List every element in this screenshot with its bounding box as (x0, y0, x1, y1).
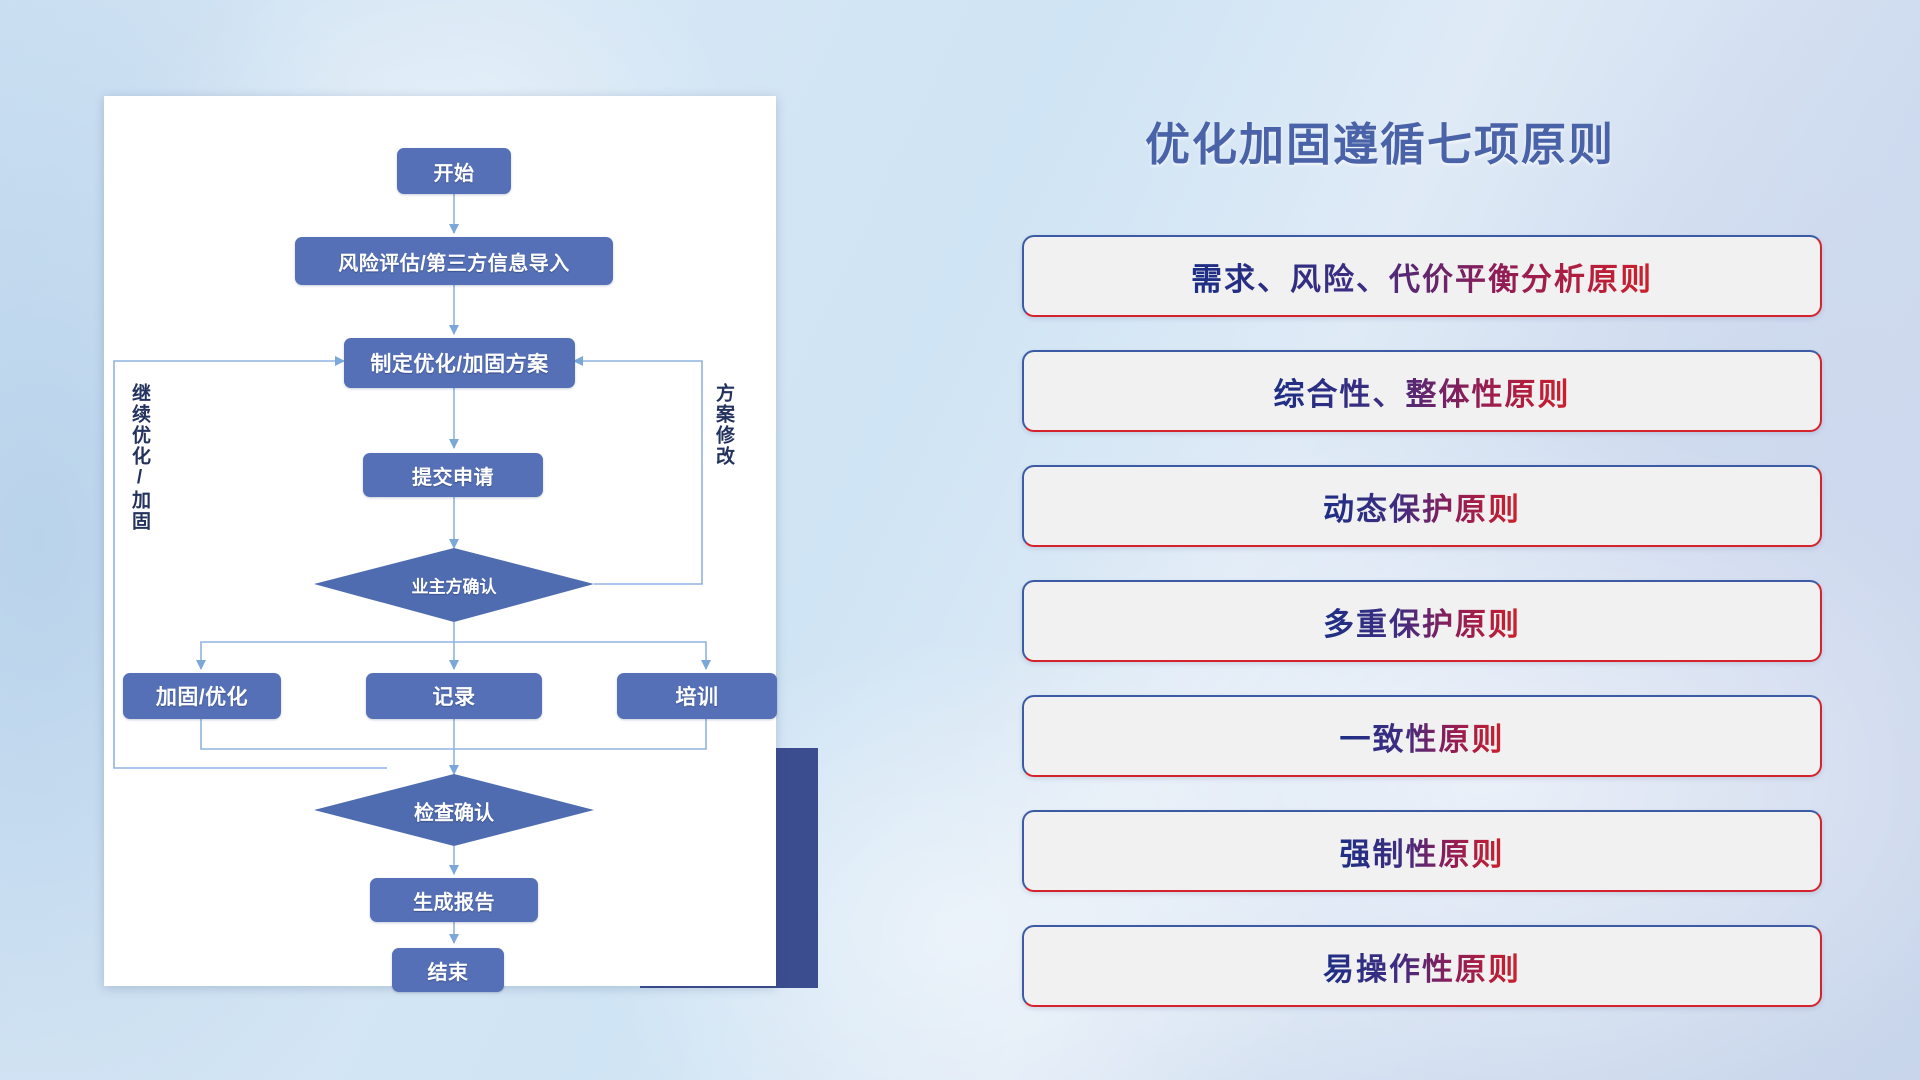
flowchart-card: 业主方确认 检查确认 开始 风险评估/第三方信息导入 制定优化/加固方案 提交申… (104, 96, 776, 986)
principle-card-label: 综合性、整体性原则 (1274, 369, 1571, 414)
flow-node-record[interactable]: 记录 (366, 673, 542, 719)
principle-card[interactable]: 强制性原则 (1022, 810, 1822, 892)
principle-card-label: 易操作性原则 (1323, 944, 1521, 989)
principle-card-label: 需求、风险、代价平衡分析原则 (1191, 254, 1653, 299)
principle-card[interactable]: 需求、风险、代价平衡分析原则 (1022, 235, 1822, 317)
flow-edge-label-revise: 方案修改 (710, 383, 737, 467)
principle-card-label: 一致性原则 (1340, 714, 1505, 759)
principle-card[interactable]: 多重保护原则 (1022, 580, 1822, 662)
flow-node-start[interactable]: 开始 (397, 148, 511, 194)
principle-card[interactable]: 易操作性原则 (1022, 925, 1822, 1007)
principle-card-label: 强制性原则 (1340, 829, 1505, 874)
flow-node-end[interactable]: 结束 (392, 948, 504, 992)
flow-node-check-label: 检查确认 (414, 797, 494, 826)
principle-card[interactable]: 动态保护原则 (1022, 465, 1822, 547)
principle-card[interactable]: 综合性、整体性原则 (1022, 350, 1822, 432)
page-title: 优化加固遵循七项原则 (1030, 108, 1730, 173)
flow-node-training[interactable]: 培训 (617, 673, 777, 719)
flow-node-reinforce[interactable]: 加固/优化 (123, 673, 281, 719)
flow-edge-label-continue: 继续优化/加固 (126, 383, 153, 532)
flow-node-submit[interactable]: 提交申请 (363, 453, 543, 497)
flow-node-risk-assessment[interactable]: 风险评估/第三方信息导入 (295, 237, 613, 285)
flow-node-report[interactable]: 生成报告 (370, 878, 538, 922)
principles-list: 需求、风险、代价平衡分析原则 综合性、整体性原则 动态保护原则 多重保护原则 一… (1022, 235, 1822, 1040)
flow-node-plan[interactable]: 制定优化/加固方案 (344, 338, 575, 388)
flow-node-owner-label: 业主方确认 (412, 573, 497, 598)
principle-card-label: 多重保护原则 (1323, 599, 1521, 644)
principle-card[interactable]: 一致性原则 (1022, 695, 1822, 777)
flowchart-diagram (104, 96, 776, 986)
principle-card-label: 动态保护原则 (1323, 484, 1521, 529)
